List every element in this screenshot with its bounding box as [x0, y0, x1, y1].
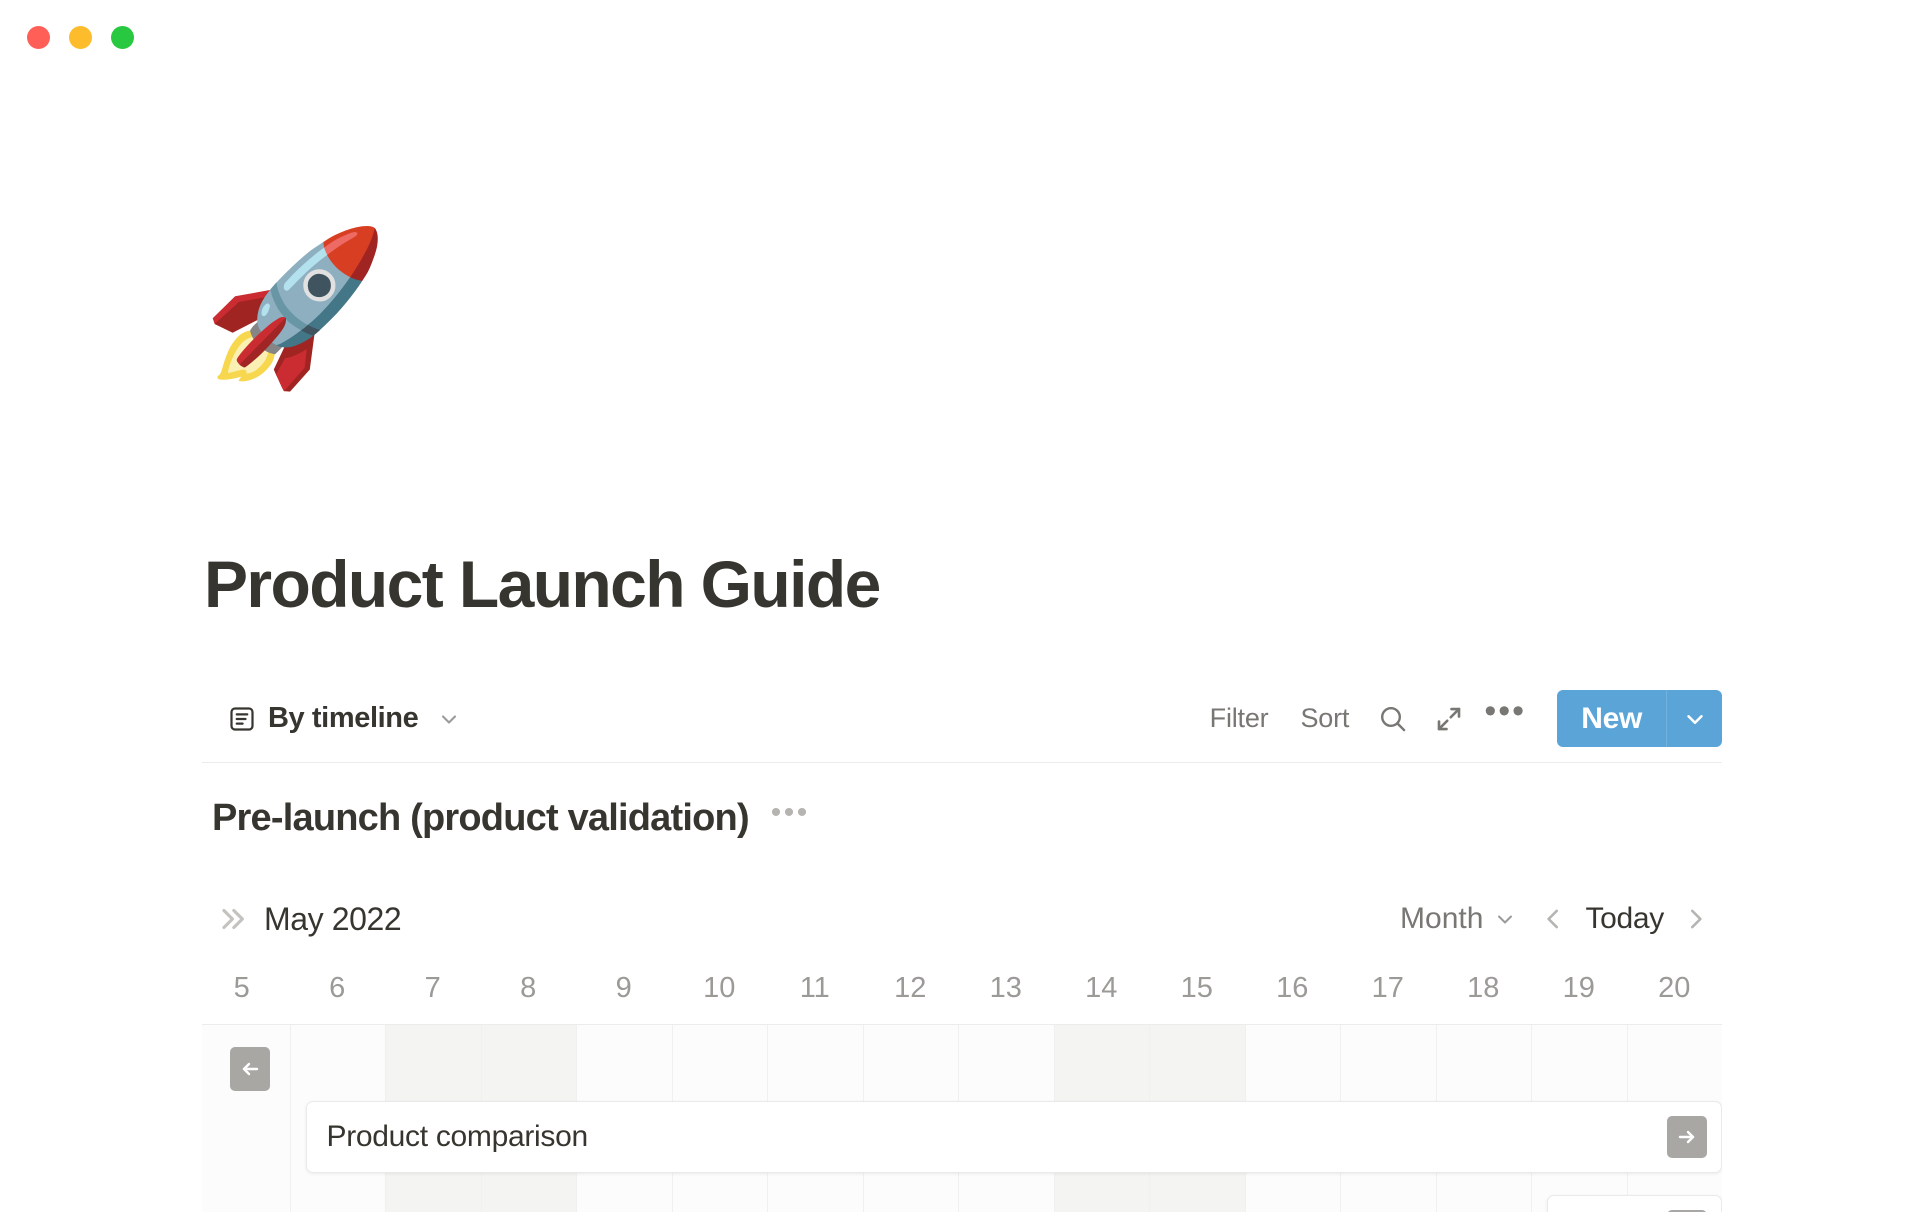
timeline-prev-chevron-left-icon[interactable] — [1527, 895, 1579, 943]
page-body: 🚀 Product Launch Guide By timeline — [0, 62, 1920, 1200]
section-title[interactable]: Pre-launch (product validation) — [212, 797, 749, 840]
timeline-day-label: 14 — [1054, 952, 1150, 1024]
new-button-group: New — [1557, 690, 1722, 747]
timeline-day-label: 9 — [576, 952, 672, 1024]
timeline-day-label: 18 — [1436, 952, 1532, 1024]
new-button[interactable]: New — [1557, 690, 1666, 747]
timeline-nav: May 2022 Month Today — [202, 887, 1722, 951]
timeline-nav-left: May 2022 — [214, 901, 401, 938]
timeline-bar-label: Product comparison — [307, 1120, 588, 1154]
timeline-day-label: 10 — [672, 952, 768, 1024]
timeline-grid[interactable]: 567891011121314151617181920 Product comp… — [202, 952, 1722, 1212]
timeline-scale-label: Month — [1400, 902, 1483, 936]
timeline-day-label: 8 — [481, 952, 577, 1024]
timeline-day-label: 5 — [202, 952, 290, 1024]
timeline-next-chevron-right-icon[interactable] — [1670, 895, 1722, 943]
double-chevron-right-icon[interactable] — [214, 902, 248, 936]
section-header: Pre-launch (product validation) ••• — [212, 797, 810, 840]
timeline-day-label: 16 — [1245, 952, 1341, 1024]
timeline-day-label: 12 — [863, 952, 959, 1024]
new-dropdown-chevron-down-icon[interactable] — [1666, 690, 1722, 747]
search-icon[interactable] — [1365, 694, 1421, 744]
timeline-month-label: May 2022 — [264, 901, 401, 938]
ellipsis-icon[interactable]: ••• — [1477, 694, 1533, 744]
page-emoji-icon[interactable]: 🚀 — [202, 212, 392, 402]
view-tab-label: By timeline — [268, 702, 418, 735]
window-maximize-button[interactable] — [111, 26, 134, 49]
tab-by-timeline[interactable]: By timeline — [228, 702, 461, 735]
timeline-column-divider — [290, 1025, 291, 1212]
section-ellipsis-icon[interactable]: ••• — [771, 807, 810, 831]
timeline-day-label: 20 — [1627, 952, 1723, 1024]
timeline-day-header: 567891011121314151617181920 — [202, 952, 1722, 1024]
timeline-day-label: 15 — [1149, 952, 1245, 1024]
timeline-bar-scroll-right-arrow-right-icon[interactable] — [1667, 1116, 1707, 1158]
list-view-icon — [228, 705, 256, 733]
expand-icon[interactable] — [1421, 694, 1477, 744]
chevron-down-icon — [1493, 907, 1517, 931]
timeline-today-button[interactable]: Today — [1579, 902, 1670, 936]
window-minimize-button[interactable] — [69, 26, 92, 49]
timeline-day-label: 13 — [958, 952, 1054, 1024]
view-toolbar: By timeline Filter Sort — [202, 675, 1722, 763]
traffic-light-group — [27, 26, 134, 49]
timeline-scroll-left-arrow-left-icon[interactable] — [230, 1047, 270, 1091]
timeline-day-label: 6 — [290, 952, 386, 1024]
timeline-bar[interactable]: Competito — [1547, 1195, 1722, 1212]
sort-button[interactable]: Sort — [1284, 695, 1365, 742]
window-titlebar — [0, 0, 1920, 62]
timeline-day-label: 19 — [1531, 952, 1627, 1024]
chevron-down-icon[interactable] — [437, 707, 461, 731]
timeline-scale-selector[interactable]: Month — [1390, 898, 1527, 940]
timeline-day-label: 17 — [1340, 952, 1436, 1024]
filter-button[interactable]: Filter — [1194, 695, 1285, 742]
page-title[interactable]: Product Launch Guide — [204, 546, 880, 622]
timeline-grid-body[interactable]: Product comparisonCompetito — [202, 1024, 1722, 1212]
window-close-button[interactable] — [27, 26, 50, 49]
timeline-day-label: 7 — [385, 952, 481, 1024]
view-toolbar-actions: Filter Sort ••• — [1194, 690, 1722, 747]
timeline-nav-right: Month Today — [1390, 895, 1722, 943]
timeline-bar[interactable]: Product comparison — [306, 1101, 1723, 1173]
timeline-day-label: 11 — [767, 952, 863, 1024]
